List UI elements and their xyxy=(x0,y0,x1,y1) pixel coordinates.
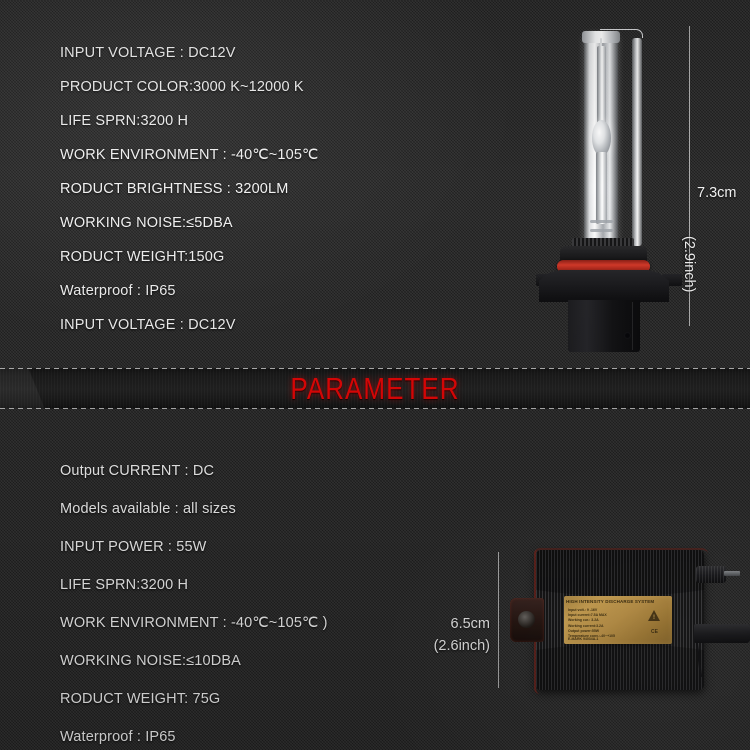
ballast-power-connector xyxy=(696,566,726,583)
spec-item: WORK ENVIRONMENT : -40℃~105℃ ) xyxy=(60,604,328,642)
spec-item: WORK ENVIRONMENT : -40℃~105℃ xyxy=(60,138,319,172)
spec-item: RODUCT BRIGHTNESS : 3200LM xyxy=(60,172,319,206)
bulb-arc-capsule xyxy=(592,120,611,156)
bulb-mounting-flange xyxy=(539,270,669,302)
ballast-connector-pin xyxy=(724,571,740,576)
ballast-dimension-inch: (2.6inch) xyxy=(410,635,490,657)
ballast-dimension-labels: 6.5cm (2.6inch) xyxy=(410,613,490,657)
ballast-output-connector xyxy=(694,624,750,643)
warning-exclamation-icon: ! xyxy=(653,615,655,621)
spec-item: Waterproof : IP65 xyxy=(60,718,328,750)
ballast-dimension-line xyxy=(498,552,499,688)
bottom-spec-list: Output CURRENT : DC Models available : a… xyxy=(60,452,328,750)
ballast-upper-cowl xyxy=(536,550,704,596)
spec-item: INPUT VOLTAGE : DC12V xyxy=(60,308,319,342)
hid-ballast-product-image: HIGH INTENSITY DISCHARGE SYSTEM Input vo… xyxy=(508,548,750,696)
ballast-dimension-cm: 6.5cm xyxy=(410,613,490,635)
spec-item: Output CURRENT : DC xyxy=(60,452,328,490)
bulb-base-port xyxy=(624,332,631,339)
bulb-inner-ring xyxy=(590,229,613,232)
connector-ribs xyxy=(696,566,726,583)
ballast-bracket-hole xyxy=(518,611,535,628)
banner-title: PARAMETER xyxy=(60,368,690,409)
spec-item: RODUCT WEIGHT:150G xyxy=(60,240,319,274)
bulb-base-seam xyxy=(632,302,633,350)
ballast-spec-label: HIGH INTENSITY DISCHARGE SYSTEM Input vo… xyxy=(564,596,672,644)
spec-item: WORKING NOISE:≤5DBA xyxy=(60,206,319,240)
bulb-upper-electrode xyxy=(597,46,606,124)
bulb-inner-ring xyxy=(590,220,613,223)
spec-item: LIFE SPRN:3200 H xyxy=(60,104,319,138)
bulb-return-wire-sleeve xyxy=(632,38,642,246)
ballast-lower-cowl xyxy=(536,644,704,690)
spec-item: Models available : all sizes xyxy=(60,490,328,528)
hid-bulb-product-image xyxy=(528,24,690,354)
spec-item: INPUT POWER : 55W xyxy=(60,528,328,566)
spec-item: PRODUCT COLOR:3000 K~12000 K xyxy=(60,70,319,104)
spec-item: RODUCT WEIGHT: 75G xyxy=(60,680,328,718)
ballast-label-footer: E-MARK 94034A-1 xyxy=(568,637,598,641)
ce-mark-icon: CE xyxy=(651,629,658,635)
bulb-connector-base xyxy=(568,300,640,352)
ballast-label-heading: HIGH INTENSITY DISCHARGE SYSTEM xyxy=(566,599,670,604)
parameter-banner: PARAMETER xyxy=(0,368,750,409)
spec-item: Waterproof : IP65 xyxy=(60,274,319,308)
bulb-dimension-inch: (2.9inch) xyxy=(681,236,697,292)
spec-item: LIFE SPRN:3200 H xyxy=(60,566,328,604)
spec-item: INPUT VOLTAGE : DC12V xyxy=(60,36,319,70)
bulb-dimension-cm: 7.3cm xyxy=(697,185,737,201)
top-spec-list: INPUT VOLTAGE : DC12V PRODUCT COLOR:3000… xyxy=(60,36,319,342)
product-parameter-sheet: INPUT VOLTAGE : DC12V PRODUCT COLOR:3000… xyxy=(0,0,750,750)
ballast-label-lines: Input volt.: 9 -16V Input current:7.5A M… xyxy=(568,608,634,639)
spec-item: WORKING NOISE:≤10DBA xyxy=(60,642,328,680)
bulb-lower-electrode xyxy=(596,152,607,224)
